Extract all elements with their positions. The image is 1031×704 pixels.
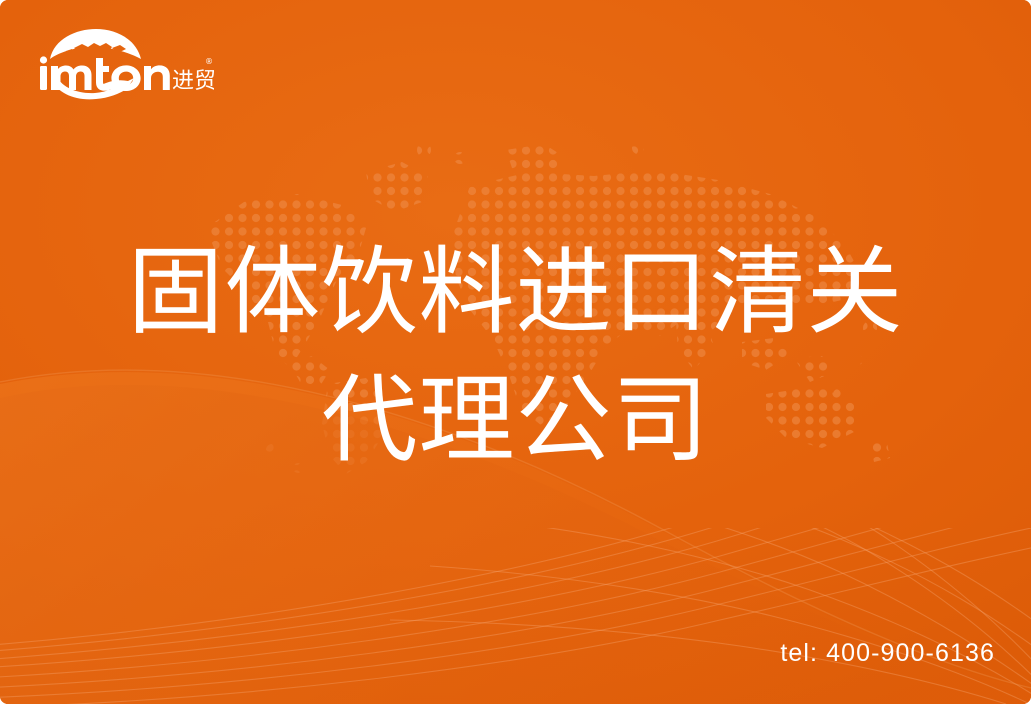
headline-line-1: 固体饮料进口清关 xyxy=(0,228,1031,356)
contact-phone[interactable]: tel: 400-900-6136 xyxy=(780,639,995,668)
headline-line-2: 代理公司 xyxy=(0,356,1031,484)
registered-trademark-icon: ® xyxy=(205,57,213,66)
promo-banner: imton 进贸通 xyxy=(0,0,1031,704)
logo-wordmark-chinese: 进贸通 xyxy=(172,69,214,94)
brand-logo[interactable]: imton 进贸通 xyxy=(38,28,214,102)
headline: 固体饮料进口清关 代理公司 xyxy=(0,228,1031,484)
